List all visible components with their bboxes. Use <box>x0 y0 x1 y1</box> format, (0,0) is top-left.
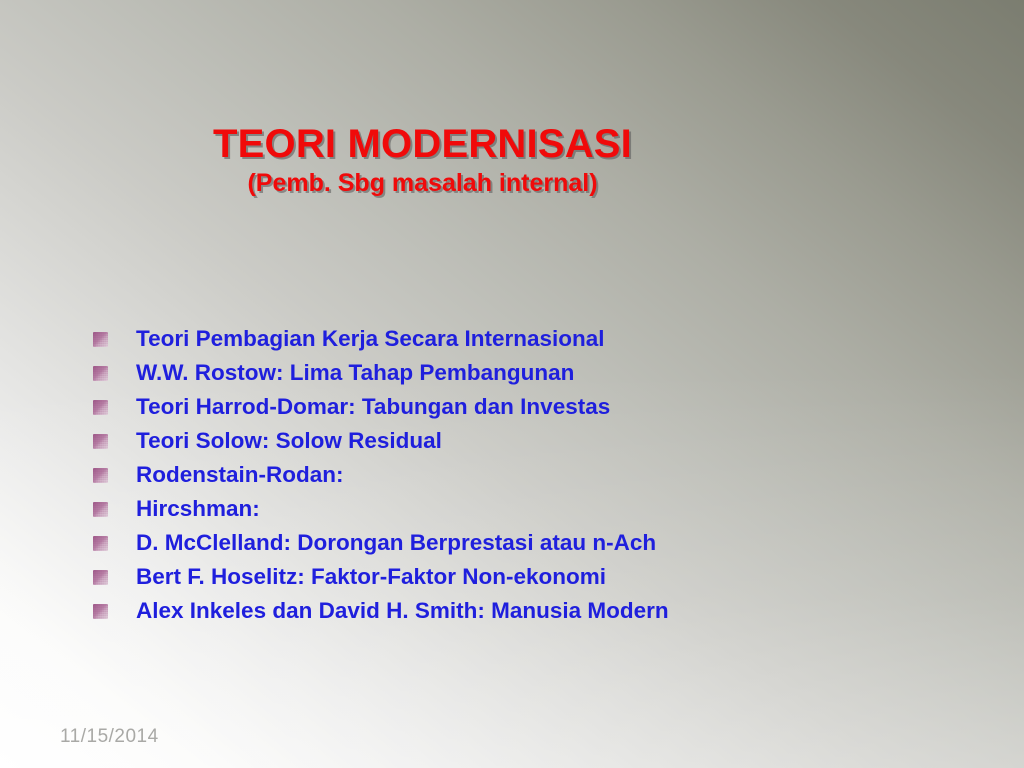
list-item: D. McClelland: Dorongan Berprestasi atau… <box>93 528 669 562</box>
slide-subtitle: (Pemb. Sbg masalah internal) <box>0 168 845 198</box>
square-picture-bullet-icon <box>93 332 108 347</box>
slide-title: TEORI MODERNISASI <box>0 122 845 166</box>
list-item-label: Teori Harrod-Domar: Tabungan dan Investa… <box>136 392 610 422</box>
list-item: Teori Solow: Solow Residual <box>93 426 669 460</box>
square-picture-bullet-icon <box>93 434 108 449</box>
list-item-label: Teori Pembagian Kerja Secara Internasion… <box>136 324 605 354</box>
list-item: Hircshman: <box>93 494 669 528</box>
list-item-label: Alex Inkeles dan David H. Smith: Manusia… <box>136 596 669 626</box>
square-picture-bullet-icon <box>93 502 108 517</box>
list-item-label: Hircshman: <box>136 494 260 524</box>
list-item: W.W. Rostow: Lima Tahap Pembangunan <box>93 358 669 392</box>
presentation-slide: TEORI MODERNISASI (Pemb. Sbg masalah int… <box>0 0 1024 768</box>
list-item: Bert F. Hoselitz: Faktor-Faktor Non-ekon… <box>93 562 669 596</box>
list-item-label: Teori Solow: Solow Residual <box>136 426 442 456</box>
square-picture-bullet-icon <box>93 570 108 585</box>
list-item-label: Rodenstain-Rodan: <box>136 460 344 490</box>
title-block: TEORI MODERNISASI (Pemb. Sbg masalah int… <box>0 122 845 198</box>
list-item-label: W.W. Rostow: Lima Tahap Pembangunan <box>136 358 574 388</box>
list-item: Teori Harrod-Domar: Tabungan dan Investa… <box>93 392 669 426</box>
square-picture-bullet-icon <box>93 536 108 551</box>
square-picture-bullet-icon <box>93 468 108 483</box>
slide-date: 11/15/2014 <box>60 726 159 748</box>
square-picture-bullet-icon <box>93 604 108 619</box>
list-item: Teori Pembagian Kerja Secara Internasion… <box>93 324 669 358</box>
list-item-label: D. McClelland: Dorongan Berprestasi atau… <box>136 528 656 558</box>
bullet-list: Teori Pembagian Kerja Secara Internasion… <box>93 324 669 630</box>
list-item-label: Bert F. Hoselitz: Faktor-Faktor Non-ekon… <box>136 562 606 592</box>
list-item: Rodenstain-Rodan: <box>93 460 669 494</box>
square-picture-bullet-icon <box>93 366 108 381</box>
square-picture-bullet-icon <box>93 400 108 415</box>
list-item: Alex Inkeles dan David H. Smith: Manusia… <box>93 596 669 630</box>
